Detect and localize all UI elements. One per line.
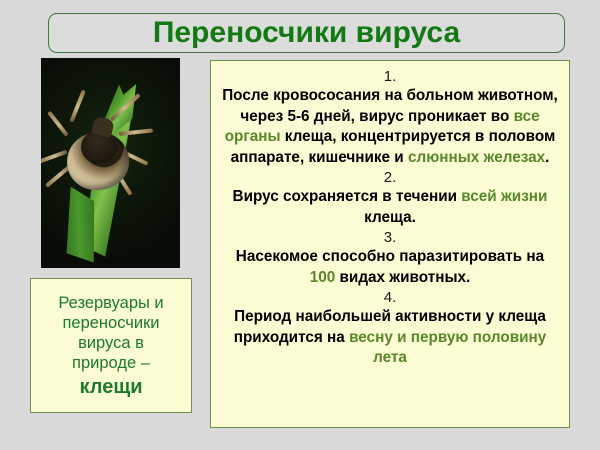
body-text: После кровососания на больном животном, … [222, 87, 558, 125]
highlighted-term: всей жизни [461, 188, 547, 205]
page-title: Переносчики вируса [153, 18, 460, 48]
caption-panel: Резервуары и переносчики вируса в природ… [30, 278, 192, 413]
list-item: Насекомое способно паразитировать на 100… [219, 247, 561, 288]
caption-line-1: Резервуары и [58, 294, 163, 312]
highlighted-term: весну и первую половину лета [349, 329, 546, 367]
caption-line-4: природе – [72, 354, 150, 372]
list-item-number: 4. [219, 288, 561, 307]
content-panel: 1.После кровососания на больном животном… [210, 60, 570, 428]
body-text: Насекомое способно паразитировать на [236, 248, 544, 265]
list-item: Вирус сохраняется в течении всей жизни к… [219, 187, 561, 228]
list-item-number: 3. [219, 228, 561, 247]
list-item-number: 1. [219, 67, 561, 86]
body-text: . [545, 149, 549, 166]
list-item-number: 2. [219, 168, 561, 187]
caption-line-2: переносчики [62, 314, 159, 332]
list-item: Период наибольшей активности у клеща при… [219, 307, 561, 369]
highlighted-term: 100 [310, 269, 336, 286]
caption-line-3: вируса в [78, 334, 144, 352]
slide-title-box: Переносчики вируса [48, 13, 565, 53]
body-text: видах животных. [335, 269, 470, 286]
list-item: После кровососания на больном животном, … [219, 86, 561, 168]
caption-emphasis: клещи [80, 375, 143, 399]
numbered-fact-list: 1.После кровососания на больном животном… [219, 67, 561, 369]
caption-text: Резервуары и переносчики вируса в природ… [58, 293, 163, 373]
tick-photo [41, 58, 180, 268]
body-text: клеща. [364, 209, 416, 226]
highlighted-term: слюнных железах [408, 149, 545, 166]
body-text: Вирус сохраняется в течении [233, 188, 462, 205]
